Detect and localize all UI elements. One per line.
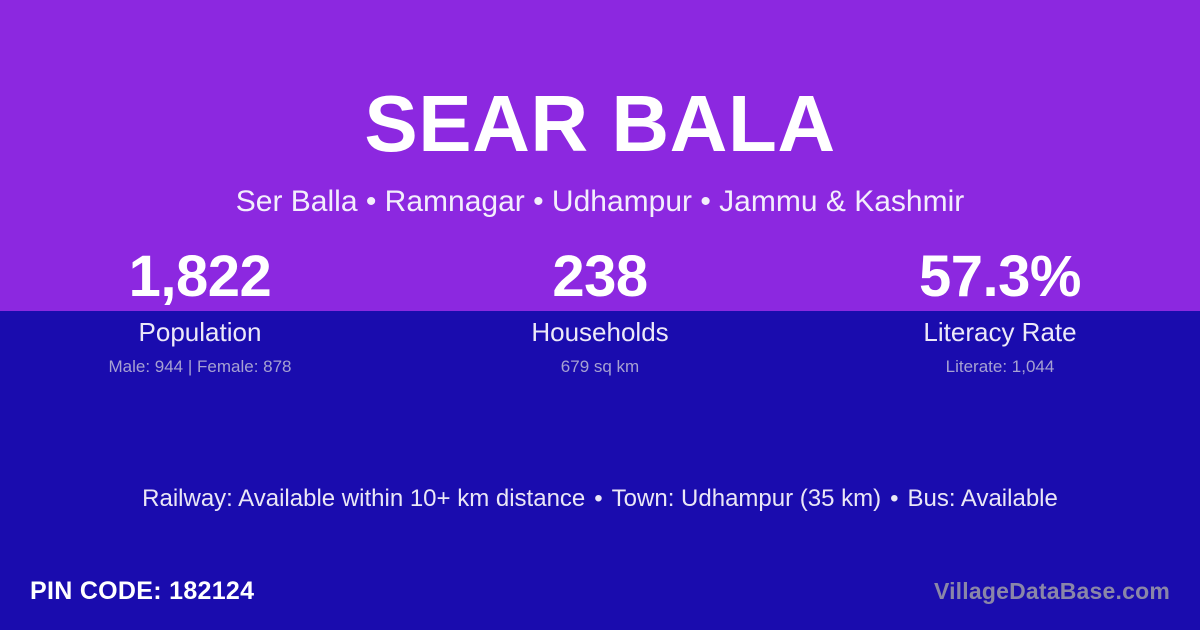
stat-label: Literacy Rate <box>800 319 1200 345</box>
amenity-town: Town: Udhampur (35 km) <box>612 485 881 512</box>
amenity-separator: • <box>881 485 907 512</box>
amenity-railway: Railway: Available within 10+ km distanc… <box>142 485 585 512</box>
card-footer: PIN CODE: 182124 VillageDataBase.com <box>0 575 1200 630</box>
page-title: SEAR BALA <box>0 0 1200 164</box>
amenity-bus: Bus: Available <box>908 485 1058 512</box>
stat-label: Population <box>0 319 400 345</box>
stat-households: 238 Households 679 sq km <box>400 248 800 375</box>
village-info-card: SEAR BALA Ser Balla • Ramnagar • Udhampu… <box>0 0 1200 630</box>
stats-row: 1,822 Population Male: 944 | Female: 878… <box>0 248 1200 375</box>
amenity-separator: • <box>585 485 611 512</box>
stat-sublabel: 679 sq km <box>400 358 800 375</box>
stat-value: 238 <box>400 248 800 306</box>
stat-sublabel: Male: 944 | Female: 878 <box>0 358 400 375</box>
breadcrumb: Ser Balla • Ramnagar • Udhampur • Jammu … <box>0 164 1200 217</box>
pin-code: PIN CODE: 182124 <box>30 579 254 604</box>
stat-value: 1,822 <box>0 248 400 306</box>
stat-literacy-rate: 57.3% Literacy Rate Literate: 1,044 <box>800 248 1200 375</box>
stat-population: 1,822 Population Male: 944 | Female: 878 <box>0 248 400 375</box>
stat-sublabel: Literate: 1,044 <box>800 358 1200 375</box>
stat-value: 57.3% <box>800 248 1200 306</box>
card-header: SEAR BALA Ser Balla • Ramnagar • Udhampu… <box>0 0 1200 217</box>
brand-watermark: VillageDataBase.com <box>934 580 1170 603</box>
stat-label: Households <box>400 319 800 345</box>
amenities-line: Railway: Available within 10+ km distanc… <box>0 487 1200 511</box>
